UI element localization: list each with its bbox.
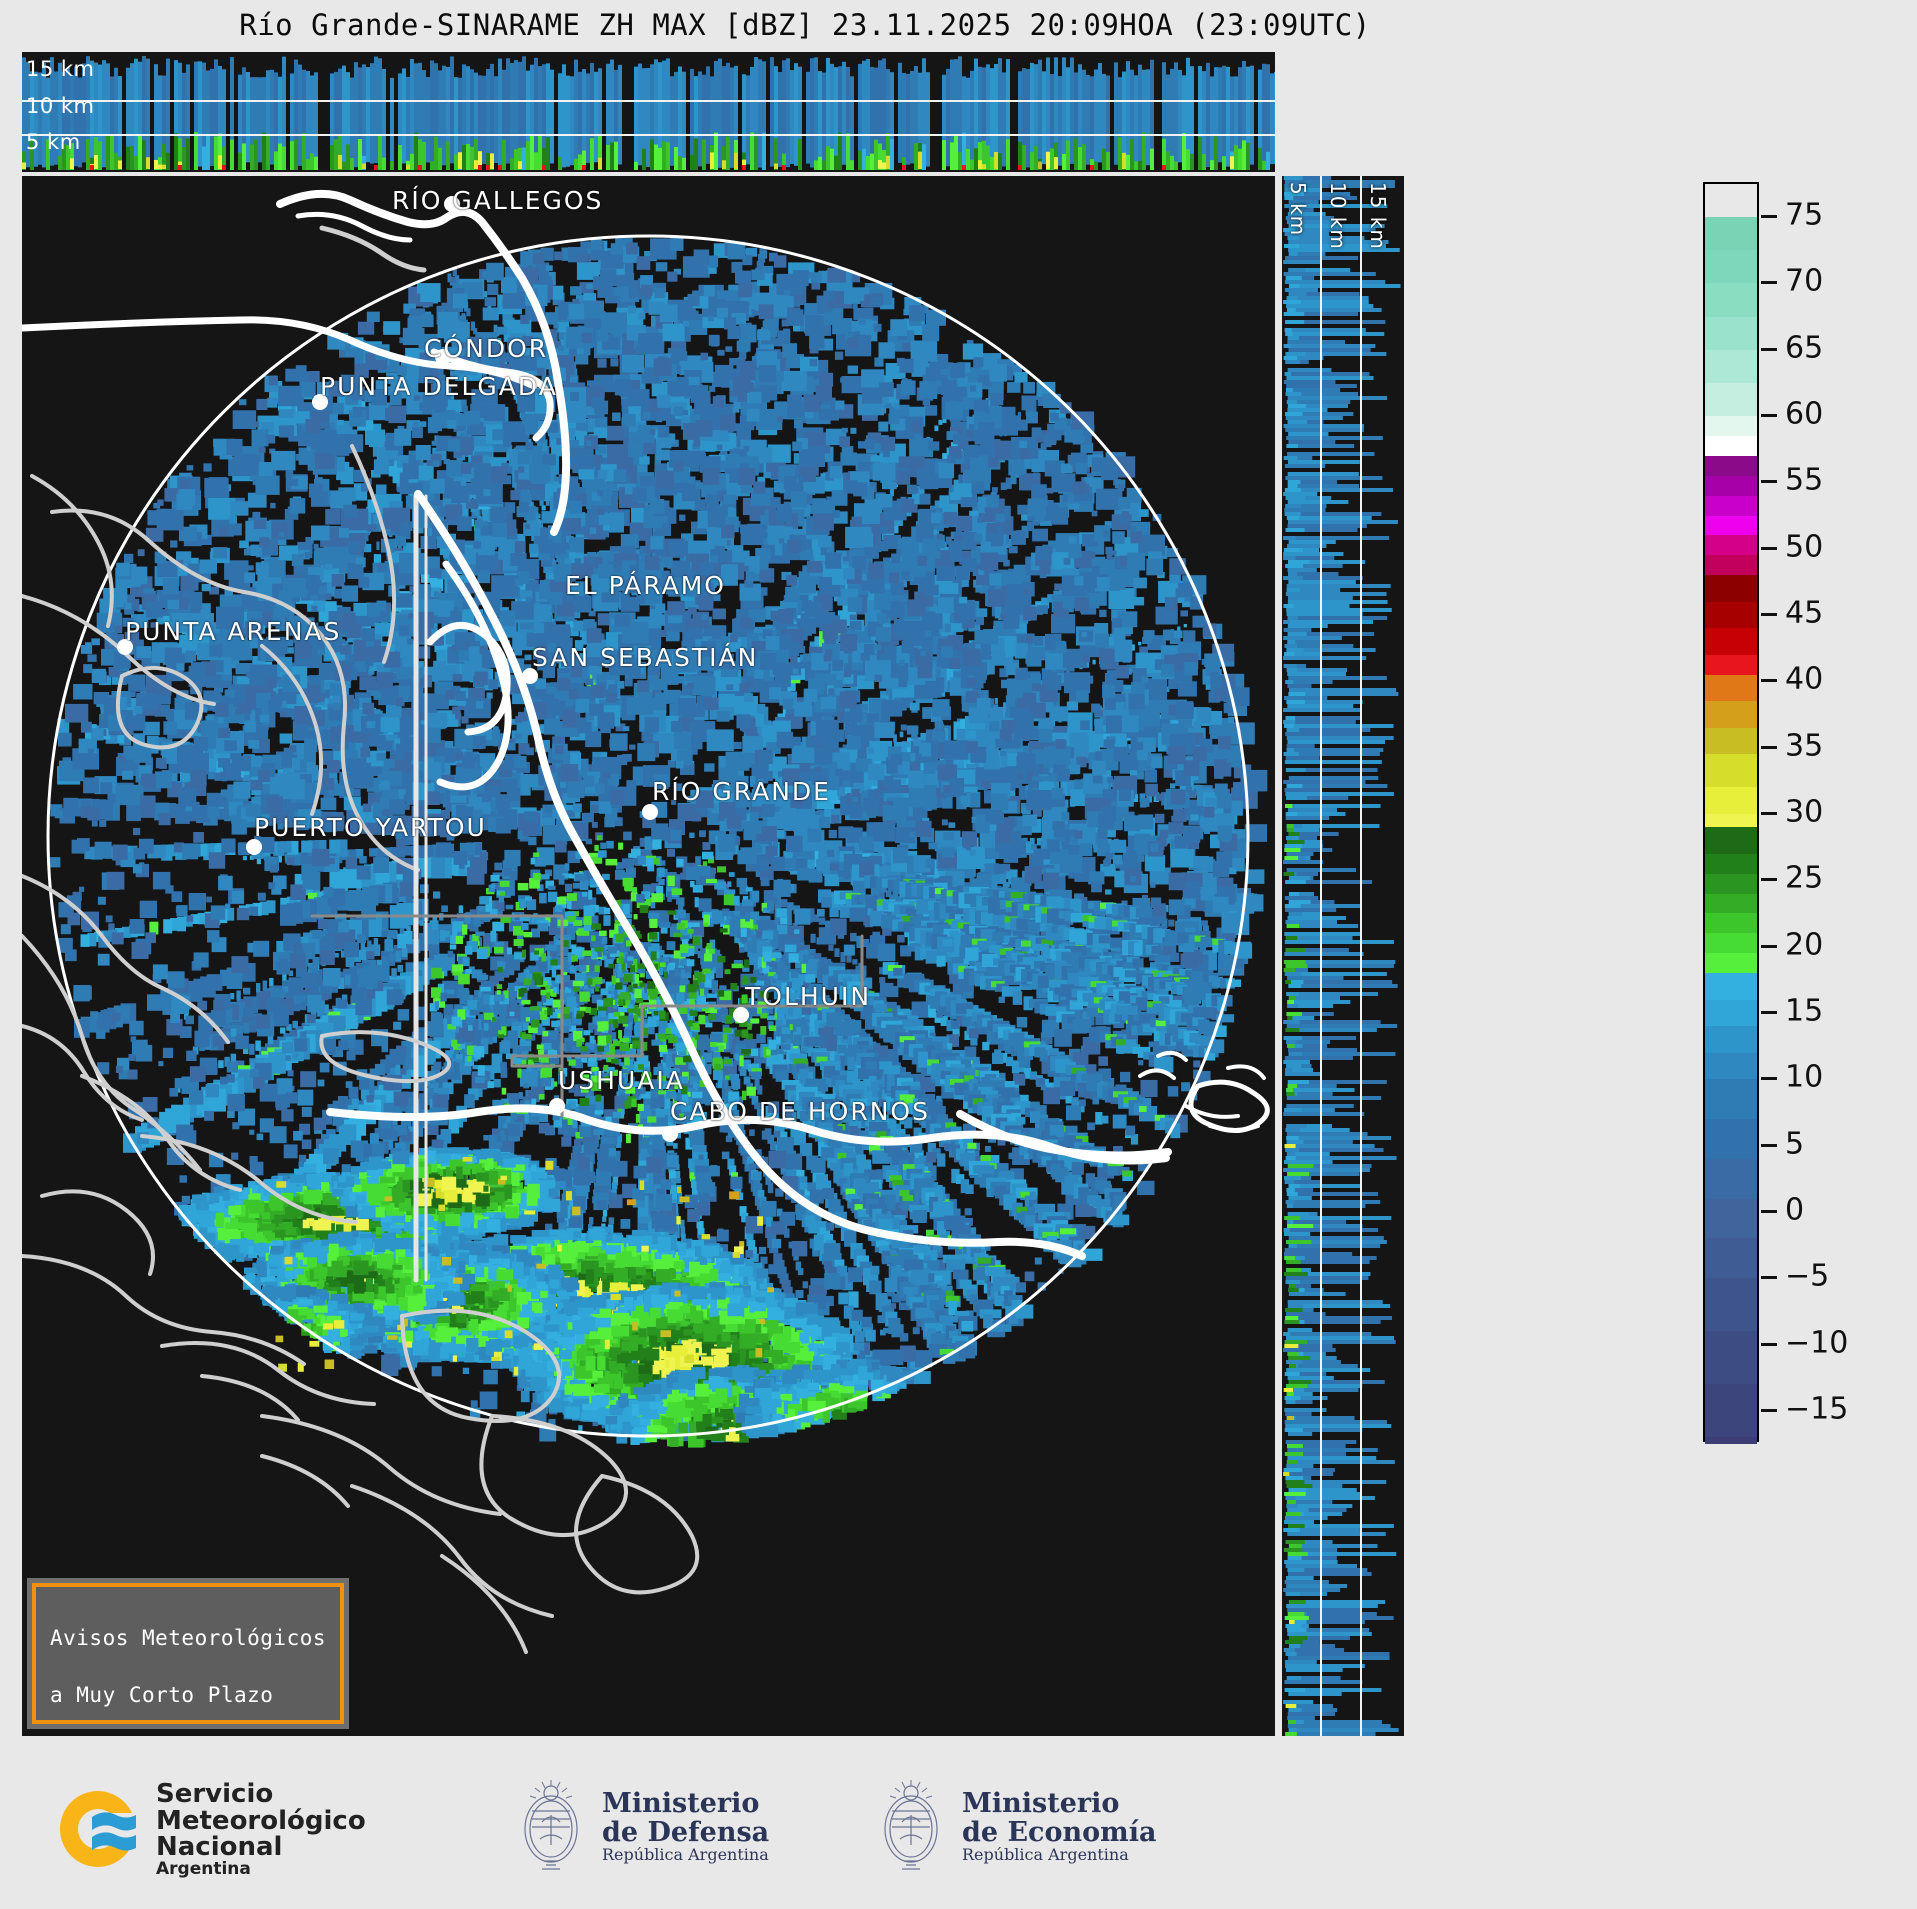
colorbar-swatch <box>1705 602 1757 629</box>
economia-line-3: República Argentina <box>962 1847 1156 1864</box>
colorbar-swatch <box>1705 728 1757 755</box>
page-title: Río Grande-SINARAME ZH MAX [dBZ] 23.11.2… <box>0 8 1610 42</box>
radar-map-panel[interactable]: RÍO GALLEGOSCÓNDORPUNTA DELGADAPUNTA ARE… <box>22 176 1275 1736</box>
colorbar-tick <box>1761 281 1777 284</box>
smn-line-2: Meteorológico <box>156 1808 366 1835</box>
smn-wordmark: Servicio Meteorológico Nacional Argentin… <box>156 1781 366 1878</box>
colorbar-swatch <box>1705 250 1757 283</box>
colorbar-swatch <box>1705 894 1757 914</box>
colorbar-swatch <box>1705 1278 1757 1331</box>
colorbar-tick <box>1761 1343 1777 1346</box>
colorbar-swatch <box>1705 1331 1757 1384</box>
colorbar-swatch <box>1705 496 1757 516</box>
colorbar-swatch <box>1705 1119 1757 1159</box>
colorbar-swatch <box>1705 1199 1757 1239</box>
colorbar-tick <box>1761 1409 1777 1412</box>
economia-line-1: Ministerio <box>962 1790 1156 1818</box>
argentina-coat-of-arms-icon <box>872 1777 950 1877</box>
city-marker-dot[interactable] <box>642 804 658 820</box>
xsec-right-gridline-15km <box>1360 176 1362 1736</box>
xsec-top-gridline-5km <box>22 134 1275 136</box>
colorbar-tick-label: 40 <box>1785 662 1823 697</box>
colorbar-tick-label: 10 <box>1785 1060 1823 1095</box>
colorbar-tick <box>1761 414 1777 417</box>
city-label-c-ndor: CÓNDOR <box>424 334 548 363</box>
colorbar-swatch <box>1705 1437 1757 1444</box>
smn-line-3: Nacional <box>156 1834 366 1861</box>
colorbar-tick-label: 60 <box>1785 397 1823 432</box>
colorbar-tick-label: −10 <box>1785 1325 1848 1360</box>
colorbar-tick-label: 0 <box>1785 1192 1804 1227</box>
colorbar-tick-label: 50 <box>1785 529 1823 564</box>
smn-line-4: Argentina <box>156 1861 366 1878</box>
city-label-r-o-gallegos: RÍO GALLEGOS <box>392 186 603 215</box>
colorbar-tick-label: −5 <box>1785 1259 1829 1294</box>
city-label-san-sebasti-n: SAN SEBASTIÁN <box>532 643 758 672</box>
colorbar-swatch <box>1705 827 1757 854</box>
economia-line-2: de Economía <box>962 1819 1156 1847</box>
colorbar-swatch <box>1705 416 1757 436</box>
colorbar-swatch <box>1705 516 1757 536</box>
colorbar-tick <box>1761 547 1777 550</box>
colorbar-swatch <box>1705 628 1757 655</box>
colorbar-tick-label: 15 <box>1785 993 1823 1028</box>
logo-ministerio-economia: Ministerio de Economía República Argenti… <box>872 1777 1156 1877</box>
colorbar-swatch <box>1705 953 1757 973</box>
colorbar-swatch <box>1705 1238 1757 1278</box>
city-label-punta-delgada: PUNTA DELGADA <box>320 372 558 401</box>
colorbar-swatch <box>1705 973 1757 1000</box>
colorbar-tick-label: 20 <box>1785 927 1823 962</box>
logo-ministerio-defensa: Ministerio de Defensa República Argentin… <box>512 1777 769 1877</box>
city-label-puerto-yartou: PUERTO YARTOU <box>254 813 487 842</box>
colorbar-gradient <box>1703 182 1759 1442</box>
colorbar-swatch <box>1705 1000 1757 1027</box>
radar-echo-layer <box>22 176 1275 1736</box>
city-label-el-p-ramo: EL PÁRAMO <box>565 571 726 600</box>
xsec-right-label-5km: 5 km <box>1286 182 1310 236</box>
colorbar-tick-label: 25 <box>1785 861 1823 896</box>
defensa-line-3: República Argentina <box>602 1847 769 1864</box>
right-cross-section-echo <box>1282 176 1404 1736</box>
footer: Servicio Meteorológico Nacional Argentin… <box>0 1745 1917 1909</box>
colorbar-swatch <box>1705 535 1757 555</box>
colorbar-tick <box>1761 1011 1777 1014</box>
colorbar-tick-label: 75 <box>1785 198 1823 233</box>
colorbar-tick <box>1761 679 1777 682</box>
xsec-right-gridline-10km <box>1320 176 1322 1736</box>
colorbar-swatch <box>1705 874 1757 894</box>
city-label-r-o-grande: RÍO GRANDE <box>652 777 831 806</box>
colorbar-tick-label: 55 <box>1785 463 1823 498</box>
defensa-line-2: de Defensa <box>602 1819 769 1847</box>
colorbar <box>1703 182 1759 1442</box>
colorbar-tick <box>1761 215 1777 218</box>
colorbar-swatch <box>1705 456 1757 476</box>
top-cross-section-panel: 15 km 10 km 5 km <box>22 52 1275 172</box>
smn-line-1: Servicio <box>156 1781 366 1808</box>
colorbar-swatch <box>1705 575 1757 602</box>
argentina-coat-of-arms-icon <box>512 1777 590 1877</box>
colorbar-swatch <box>1705 317 1757 350</box>
city-label-tolhuin: TOLHUIN <box>745 982 871 1011</box>
colorbar-swatch <box>1705 913 1757 933</box>
colorbar-tick <box>1761 878 1777 881</box>
colorbar-tick <box>1761 812 1777 815</box>
top-cross-section-echo <box>22 52 1275 172</box>
colorbar-tick <box>1761 1144 1777 1147</box>
colorbar-ticks: 757065605550454035302520151050−5−10−15 <box>1761 182 1901 1442</box>
colorbar-tick <box>1761 1210 1777 1213</box>
colorbar-tick-label: 35 <box>1785 728 1823 763</box>
warning-line-1: Avisos Meteorológicos <box>50 1626 326 1650</box>
colorbar-swatch <box>1705 814 1757 827</box>
colorbar-swatch <box>1705 1053 1757 1080</box>
city-marker-dot[interactable] <box>662 1126 678 1142</box>
colorbar-tick <box>1761 746 1777 749</box>
defensa-wordmark: Ministerio de Defensa República Argentin… <box>602 1790 769 1863</box>
xsec-right-label-15km: 15 km <box>1366 182 1390 250</box>
colorbar-swatch <box>1705 283 1757 316</box>
colorbar-swatch <box>1705 655 1757 675</box>
colorbar-tick-label: −15 <box>1785 1391 1848 1426</box>
city-marker-dot[interactable] <box>549 1098 565 1114</box>
city-label-cabo-de-hornos: CABO DE HORNOS <box>670 1097 930 1126</box>
colorbar-tick <box>1761 613 1777 616</box>
logo-smn: Servicio Meteorológico Nacional Argentin… <box>52 1781 366 1878</box>
xsec-top-gridline-10km <box>22 100 1275 102</box>
xsec-right-label-10km: 10 km <box>1326 182 1350 250</box>
colorbar-tick <box>1761 945 1777 948</box>
colorbar-swatch <box>1705 1026 1757 1053</box>
warning-box[interactable]: Avisos Meteorológicos a Muy Corto Plazo <box>32 1583 344 1724</box>
colorbar-swatch <box>1705 701 1757 728</box>
colorbar-tick <box>1761 1077 1777 1080</box>
city-label-ushuaia: USHUAIA <box>558 1066 685 1095</box>
colorbar-swatch <box>1705 787 1757 814</box>
defensa-line-1: Ministerio <box>602 1790 769 1818</box>
colorbar-swatch <box>1705 933 1757 953</box>
right-cross-section-panel: 5 km 10 km 15 km <box>1282 176 1404 1736</box>
colorbar-tick-label: 30 <box>1785 795 1823 830</box>
colorbar-swatch <box>1705 350 1757 383</box>
colorbar-tick-label: 70 <box>1785 264 1823 299</box>
colorbar-swatch <box>1705 476 1757 496</box>
colorbar-swatch <box>1705 383 1757 416</box>
city-label-punta-arenas: PUNTA ARENAS <box>125 617 341 646</box>
economia-wordmark: Ministerio de Economía República Argenti… <box>962 1790 1156 1863</box>
colorbar-swatch <box>1705 1384 1757 1437</box>
colorbar-swatch <box>1705 1159 1757 1199</box>
warning-line-2: a Muy Corto Plazo <box>50 1683 273 1707</box>
colorbar-tick <box>1761 1276 1777 1279</box>
colorbar-swatch <box>1705 854 1757 874</box>
colorbar-swatch <box>1705 1079 1757 1119</box>
colorbar-swatch <box>1705 217 1757 250</box>
colorbar-swatch <box>1705 675 1757 702</box>
smn-mark-icon <box>52 1785 144 1873</box>
colorbar-tick-label: 45 <box>1785 596 1823 631</box>
colorbar-tick <box>1761 348 1777 351</box>
colorbar-tick-label: 65 <box>1785 330 1823 365</box>
colorbar-swatch <box>1705 436 1757 456</box>
colorbar-tick <box>1761 480 1777 483</box>
colorbar-swatch <box>1705 555 1757 575</box>
colorbar-swatch <box>1705 754 1757 787</box>
colorbar-tick-label: 5 <box>1785 1126 1804 1161</box>
